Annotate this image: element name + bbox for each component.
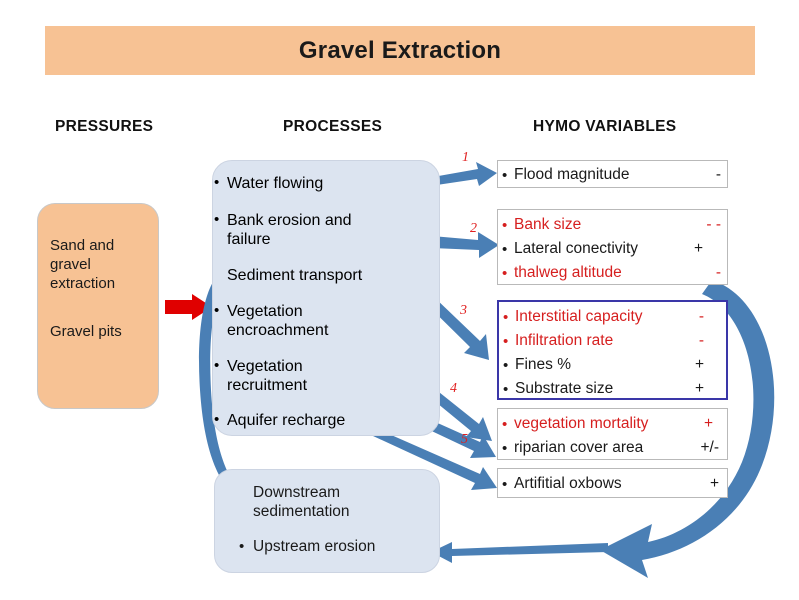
- hymo-group-5: • Artifitial oxbows +: [497, 468, 728, 498]
- process-item-label: Vegetation recruitment: [227, 358, 307, 394]
- hymo-variable-sign: -: [716, 264, 727, 282]
- bullet-icon: •: [502, 217, 514, 234]
- bullet-icon: •: [502, 167, 514, 184]
- bullet-icon: •: [214, 211, 219, 229]
- hymo-variable-name: Infiltration rate: [515, 332, 699, 350]
- hymo-variable-name: Interstitial capacity: [515, 308, 699, 326]
- hymo-variable-sign: +: [695, 380, 726, 398]
- hymo-row: • Artifitial oxbows +: [502, 472, 727, 496]
- hymo-variable-name: vegetation mortality: [514, 415, 704, 433]
- process-item-label: Water flowing: [227, 175, 323, 192]
- bullet-icon: •: [502, 265, 514, 282]
- bullet-icon: •: [502, 476, 514, 493]
- hymo-variable-sign: +/-: [700, 439, 727, 457]
- hymo-row: • Flood magnitude -: [502, 163, 727, 187]
- bullet-icon: •: [502, 416, 514, 433]
- diagram-canvas: Gravel Extraction PRESSURES PROCESSES HY…: [0, 0, 799, 600]
- process-item-vegetation-encroachment: • Vegetation encroachment: [227, 302, 377, 340]
- hymo-group-4: • vegetation mortality + • riparian cove…: [497, 408, 728, 460]
- hymo-row: • vegetation mortality +: [502, 412, 727, 436]
- bullet-icon: •: [214, 357, 219, 375]
- arrow-label-3: 3: [460, 303, 467, 319]
- hymo-group-3: • Interstitial capacity - • Infiltration…: [497, 300, 728, 400]
- hymo-group-1: • Flood magnitude -: [497, 160, 728, 188]
- process-item-sediment-transport: Sediment transport: [227, 266, 427, 285]
- hymo-variable-sign: - -: [706, 216, 727, 234]
- bullet-icon: •: [214, 174, 219, 192]
- hymo-group-2: • Bank size - - • Lateral conectivity + …: [497, 209, 728, 285]
- bullet-icon: •: [214, 411, 219, 429]
- hymo-variable-sign: +: [710, 475, 727, 493]
- process-item-vegetation-recruitment: • Vegetation recruitment: [227, 357, 377, 395]
- downstream-box: Downstream sedimentation • Upstream eros…: [214, 469, 440, 573]
- downstream-item-upstream-erosion: • Upstream erosion: [253, 538, 443, 557]
- hymo-row: • Infiltration rate -: [503, 329, 726, 353]
- arrow-label-5: 5: [461, 432, 468, 448]
- hymo-variable-sign: -: [699, 308, 726, 326]
- hymo-row: • Fines % +: [503, 353, 726, 377]
- hymo-variable-name: Substrate size: [515, 380, 695, 398]
- process-item-label: Aquifer recharge: [227, 412, 345, 429]
- process-item-water-flowing: • Water flowing: [227, 174, 427, 193]
- hymo-variable-name: Bank size: [514, 216, 706, 234]
- arrow-label-4: 4: [450, 381, 457, 397]
- hymo-variable-sign: +: [704, 415, 727, 433]
- hymo-row: • Bank size - -: [502, 213, 727, 237]
- hymo-variable-name: Lateral conectivity: [514, 240, 694, 258]
- hymo-variable-name: thalweg altitude: [514, 264, 716, 282]
- hymo-variable-name: riparian cover area: [514, 439, 700, 457]
- hymo-row: • riparian cover area +/-: [502, 436, 727, 460]
- hymo-variable-name: Fines %: [515, 356, 695, 374]
- hymo-variable-name: Flood magnitude: [514, 166, 716, 184]
- pressures-box: Sand and gravel extraction Gravel pits: [37, 203, 159, 409]
- downstream-item-label: Upstream erosion: [253, 538, 375, 555]
- bullet-icon: •: [502, 241, 514, 258]
- bullet-icon: •: [503, 381, 515, 398]
- hymo-variable-sign: +: [695, 356, 726, 374]
- pressures-line-2: Gravel pits: [50, 322, 154, 341]
- hymo-row: • Lateral conectivity +: [502, 237, 727, 261]
- downstream-item-label: Downstream sedimentation: [253, 484, 350, 520]
- process-item-label: Sediment transport: [227, 267, 362, 284]
- arrow-label-1: 1: [462, 150, 469, 166]
- process-item-label: Vegetation encroachment: [227, 303, 328, 339]
- hymo-row: • Interstitial capacity -: [503, 305, 726, 329]
- process-item-label: Bank erosion and failure: [227, 212, 352, 248]
- hymo-variable-sign: -: [699, 332, 726, 350]
- hymo-row: • thalweg altitude -: [502, 261, 727, 285]
- bullet-icon: •: [214, 302, 219, 320]
- processes-box: • Water flowing • Bank erosion and failu…: [212, 160, 440, 436]
- hymo-row: • Substrate size +: [503, 377, 726, 401]
- process-item-aquifer-recharge: • Aquifer recharge: [227, 411, 427, 430]
- downstream-item-sedimentation: Downstream sedimentation: [253, 484, 383, 521]
- bullet-icon: •: [503, 333, 515, 350]
- arrow-label-2: 2: [470, 221, 477, 237]
- bullet-icon: •: [503, 357, 515, 374]
- bullet-icon: •: [503, 309, 515, 326]
- pressures-line-1: Sand and gravel extraction: [50, 236, 154, 294]
- hymo-variable-name: Artifitial oxbows: [514, 475, 710, 493]
- bullet-icon: •: [502, 440, 514, 457]
- bullet-icon: •: [239, 538, 244, 556]
- process-item-bank-erosion: • Bank erosion and failure: [227, 211, 387, 249]
- hymo-variable-sign: +: [694, 240, 727, 258]
- hymo-variable-sign: -: [716, 166, 727, 184]
